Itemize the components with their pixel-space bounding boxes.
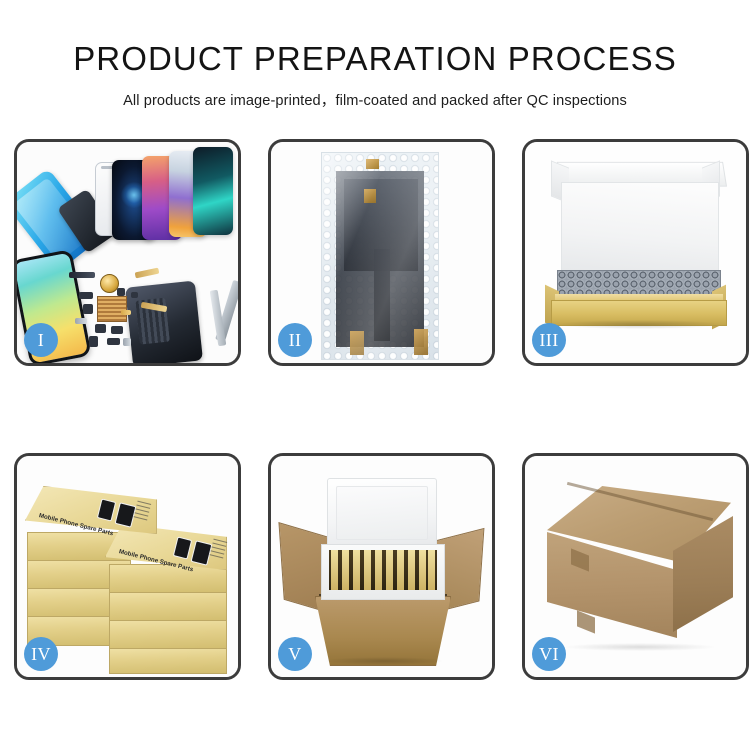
step-badge-4: IV xyxy=(24,637,58,671)
step-badge-6: VI xyxy=(532,637,566,671)
product-preparation-infographic: PRODUCT PREPARATION PROCESS All products… xyxy=(0,0,750,750)
carton-body-icon xyxy=(315,596,451,666)
stacked-box xyxy=(109,592,227,622)
process-step-card-5: V xyxy=(268,453,495,680)
spare-part-icon xyxy=(131,292,138,298)
page-subtitle: All products are image-printed，film-coat… xyxy=(0,89,750,110)
foam-lid-icon xyxy=(327,478,437,550)
spare-part-icon xyxy=(121,310,131,315)
stacked-box xyxy=(109,564,227,594)
process-step-grid: I II xyxy=(14,139,736,680)
spare-part-icon xyxy=(95,324,106,333)
flex-cable-icon xyxy=(135,268,160,279)
spare-part-icon xyxy=(69,272,95,278)
process-step-card-4: Mobile Phone Spare Parts Mobile Phone Sp… xyxy=(14,453,241,680)
drop-shadow xyxy=(325,657,443,665)
teal-gradient-phone-icon xyxy=(193,147,233,235)
stacked-box xyxy=(109,620,227,650)
chip-grid-icon xyxy=(97,296,127,322)
step-badge-2: II xyxy=(278,323,312,357)
spare-part-icon xyxy=(79,292,93,299)
step-badge-1: I xyxy=(24,323,58,357)
stacked-box xyxy=(109,648,227,674)
process-step-card-6: VI xyxy=(522,453,749,680)
spare-part-icon xyxy=(107,338,120,345)
packed-yellow-boxes-icon xyxy=(329,550,437,590)
spare-part-icon xyxy=(123,338,131,346)
page-title: PRODUCT PREPARATION PROCESS xyxy=(0,42,750,77)
box-lid-face-icon xyxy=(561,182,719,274)
bubble-wrap-bag-icon xyxy=(321,152,439,360)
process-step-card-1: I xyxy=(14,139,241,366)
spare-part-icon xyxy=(83,304,93,314)
drop-shadow xyxy=(565,643,715,651)
spare-part-icon xyxy=(89,336,98,347)
spare-part-icon xyxy=(111,326,123,334)
spare-part-icon xyxy=(117,288,125,296)
process-step-card-2: II xyxy=(268,139,495,366)
plastic-gloss-overlay xyxy=(322,153,438,359)
box-stack: Mobile Phone Spare Parts Mobile Phone Sp… xyxy=(23,478,235,664)
step-badge-3: III xyxy=(532,323,566,357)
spare-part-icon xyxy=(75,318,87,324)
process-step-card-3: III xyxy=(522,139,749,366)
drop-shadow xyxy=(557,320,721,329)
step-badge-5: V xyxy=(278,637,312,671)
header: PRODUCT PREPARATION PROCESS All products… xyxy=(0,0,750,110)
